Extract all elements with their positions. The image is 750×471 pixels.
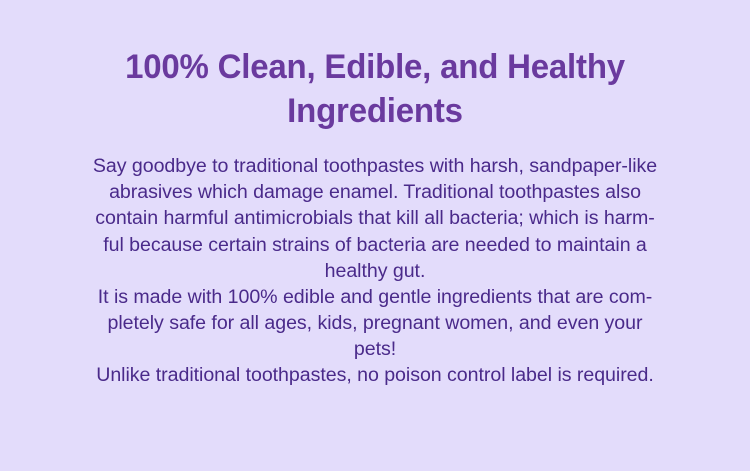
body-paragraph-1-line-2: abrasives which damage enamel. Tradition… [22,179,728,205]
body-paragraph-1-line-5: healthy gut. [22,258,728,284]
page-title-line-2: Ingredients [33,90,718,134]
body-paragraph-2-line-3: pets! [22,336,728,362]
slide-root: 100% Clean, Edible, and Healthy Ingredie… [0,0,750,471]
body-paragraph-1: Say goodbye to traditional toothpastes w… [22,153,728,284]
body-paragraph-2-line-1: It is made with 100% edible and gentle i… [22,284,728,310]
body-paragraph-1-line-4: ful because certain strains of bacteria … [22,232,728,258]
body-paragraph-1-line-3: contain harmful antimicrobials that kill… [22,205,728,231]
page-title-line-1: 100% Clean, Edible, and Healthy [33,46,718,90]
body-paragraph-3-line-1: Unlike traditional toothpastes, no poiso… [22,362,728,388]
body-paragraph-1-line-1: Say goodbye to traditional toothpastes w… [22,153,728,179]
page-title: 100% Clean, Edible, and Healthy Ingredie… [33,46,718,133]
body-paragraph-2: It is made with 100% edible and gentle i… [22,284,728,362]
body-paragraph-3: Unlike traditional toothpastes, no poiso… [22,362,728,388]
body-copy: Say goodbye to traditional toothpastes w… [22,153,728,388]
body-paragraph-2-line-2: pletely safe for all ages, kids, pregnan… [22,310,728,336]
